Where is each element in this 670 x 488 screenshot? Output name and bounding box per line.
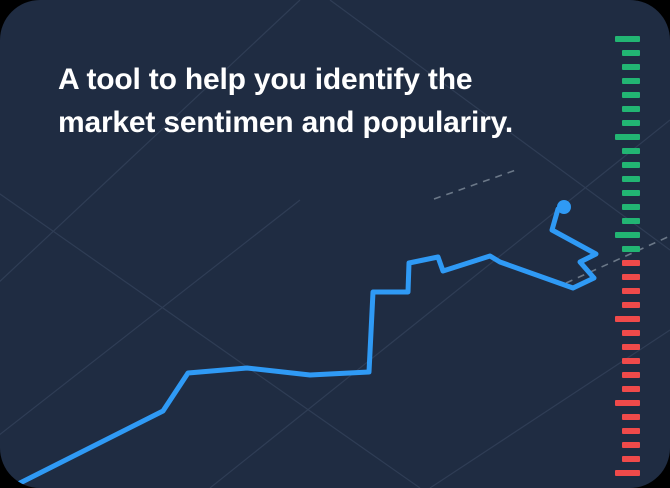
sentiment-tick-negative bbox=[622, 428, 640, 434]
sentiment-tick-negative bbox=[622, 442, 640, 448]
sentiment-tick-negative bbox=[615, 470, 640, 476]
sentiment-tick-negative bbox=[622, 414, 640, 420]
sentiment-tick-positive bbox=[622, 78, 640, 84]
sentiment-tick-positive bbox=[622, 64, 640, 70]
sentiment-tick-positive bbox=[622, 176, 640, 182]
sentiment-tick-positive bbox=[622, 204, 640, 210]
sentiment-tick-negative bbox=[622, 288, 640, 294]
sentiment-tick-positive bbox=[622, 120, 640, 126]
sentiment-tick-negative bbox=[622, 330, 640, 336]
sentiment-tick-positive bbox=[622, 148, 640, 154]
sentiment-line-chart bbox=[0, 0, 670, 488]
sentiment-tick-negative bbox=[622, 344, 640, 350]
trend-endpoint-marker[interactable] bbox=[557, 200, 571, 214]
sentiment-gauge[interactable] bbox=[606, 36, 640, 446]
promo-card: A tool to help you identify the market s… bbox=[0, 0, 670, 488]
sentiment-tick-negative bbox=[622, 456, 640, 462]
sentiment-tick-positive bbox=[615, 134, 640, 140]
sentiment-tick-positive bbox=[615, 36, 640, 42]
trend-line bbox=[20, 207, 596, 483]
sentiment-tick-negative bbox=[622, 358, 640, 364]
sentiment-tick-positive bbox=[622, 190, 640, 196]
sentiment-tick-positive bbox=[622, 218, 640, 224]
sentiment-tick-positive bbox=[615, 232, 640, 238]
sentiment-tick-negative bbox=[622, 302, 640, 308]
sentiment-tick-positive bbox=[622, 106, 640, 112]
sentiment-tick-negative bbox=[622, 274, 640, 280]
sentiment-tick-positive bbox=[622, 50, 640, 56]
sentiment-tick-positive bbox=[622, 246, 640, 252]
sentiment-tick-positive bbox=[622, 92, 640, 98]
sentiment-tick-negative bbox=[622, 260, 640, 266]
sentiment-tick-negative bbox=[615, 400, 640, 406]
sentiment-tick-negative bbox=[622, 372, 640, 378]
sentiment-tick-positive bbox=[622, 162, 640, 168]
sentiment-tick-negative bbox=[622, 386, 640, 392]
sentiment-tick-negative bbox=[615, 316, 640, 322]
